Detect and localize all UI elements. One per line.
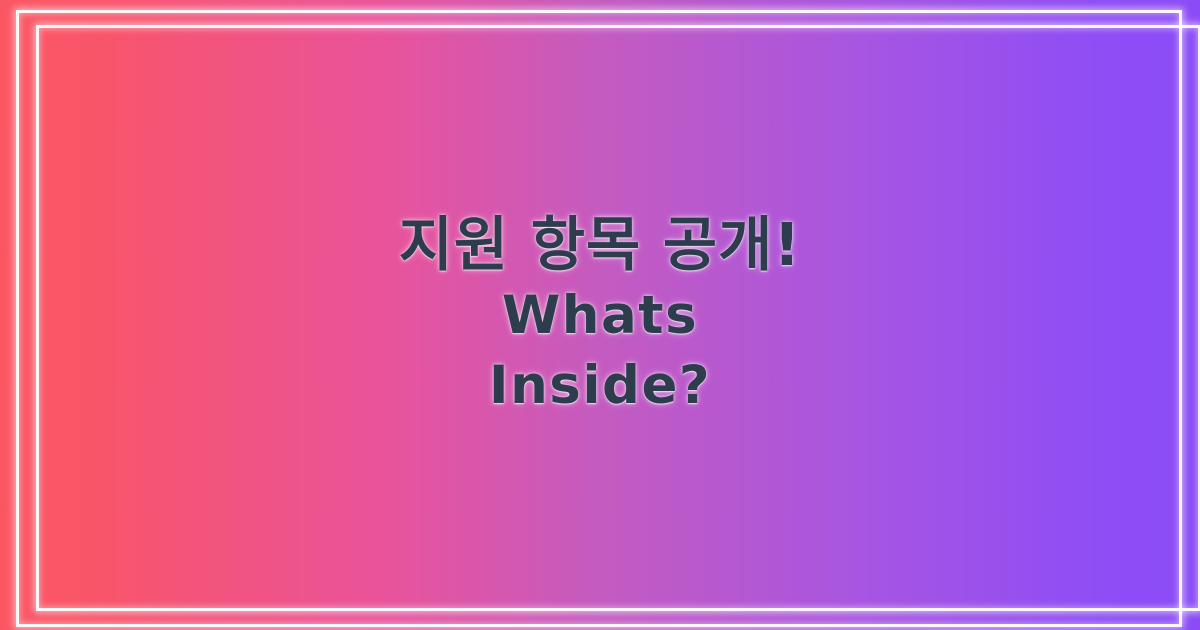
headline-block: 지원 항목 공개! Whats Inside? <box>0 0 1200 630</box>
headline-line-english-1: Whats <box>502 281 698 351</box>
headline-line-english-2: Inside? <box>489 351 711 421</box>
promo-banner: 지원 항목 공개! Whats Inside? <box>0 0 1200 630</box>
headline-line-korean: 지원 항목 공개! <box>399 209 802 281</box>
